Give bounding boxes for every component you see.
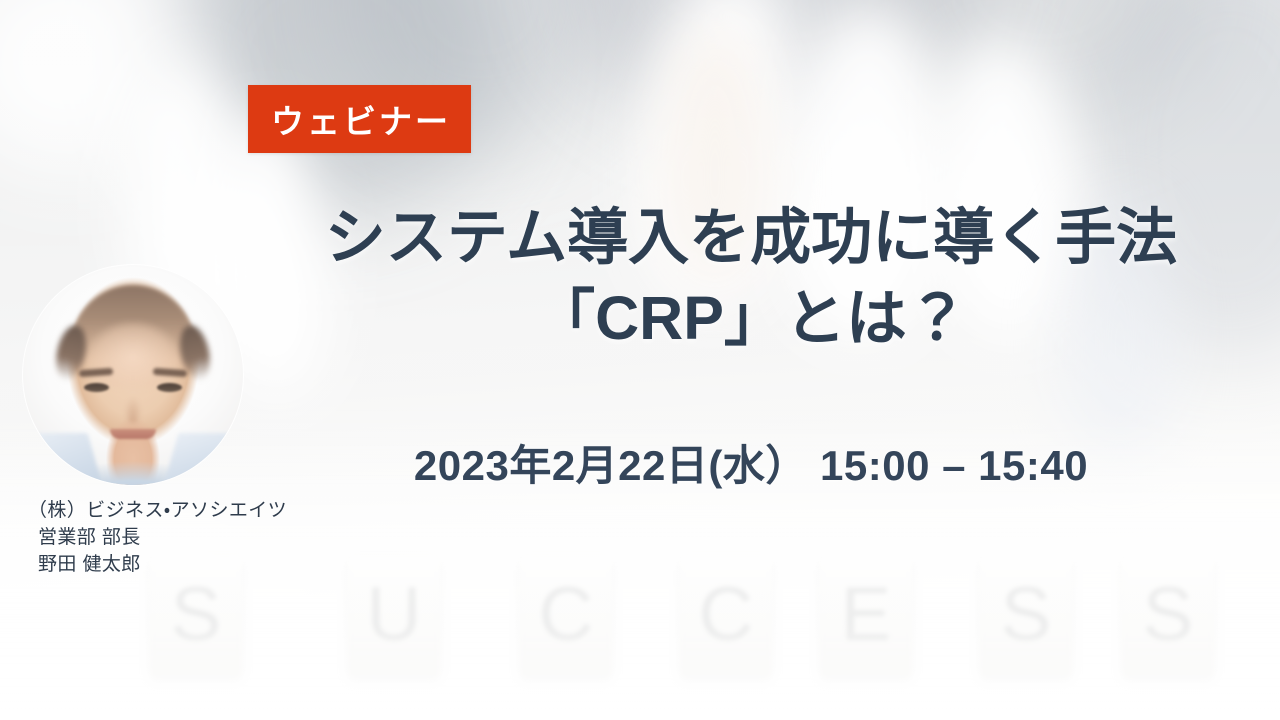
page-title: システム導入を成功に導く手法 「CRP」とは？ <box>236 198 1266 360</box>
webinar-badge: ウェビナー <box>248 85 471 153</box>
avatar-collar-right <box>164 433 237 485</box>
speaker-company: （株）ビジネス・アソシエイツ <box>28 497 338 524</box>
avatar-eye-left <box>84 383 109 392</box>
speaker-role: 営業部 部長 <box>28 524 338 551</box>
avatar-photo <box>23 265 243 485</box>
avatar-nose <box>124 397 142 423</box>
avatar-mouth <box>110 429 156 439</box>
webinar-banner: S U C C E S S ウェビナー システム導入を成功に導く手法 「CRP」… <box>0 0 1280 720</box>
speaker-name: 野田 健太郎 <box>28 551 338 578</box>
title-line-1: システム導入を成功に導く手法 <box>236 198 1266 276</box>
event-datetime: 2023年2月22日(水） 15:00 – 15:40 <box>236 432 1266 493</box>
avatar <box>23 265 243 485</box>
avatar-collar-left <box>30 433 103 485</box>
avatar-eye-right <box>157 383 182 392</box>
title-line-2: 「CRP」とは？ <box>236 276 1266 360</box>
speaker-info: （株）ビジネス・アソシエイツ 営業部 部長 野田 健太郎 <box>28 497 338 578</box>
banner-content: ウェビナー システム導入を成功に導く手法 「CRP」とは？ 2023年2月22日… <box>0 0 1280 720</box>
